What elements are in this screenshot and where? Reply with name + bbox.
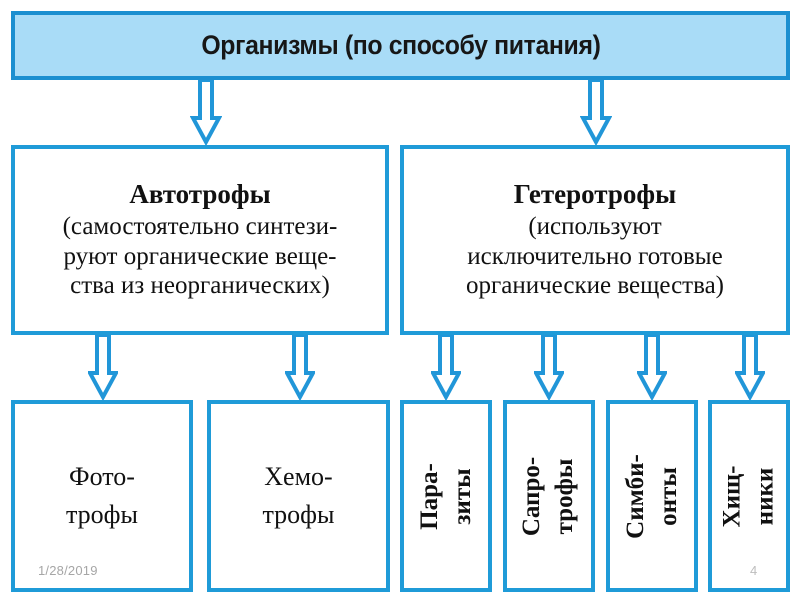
heterotrophs-line-1: (используют [466, 212, 724, 242]
type-box-parasites: Пара- зиты [400, 400, 492, 592]
arrow-autotrophs-to-phototrophs [88, 335, 118, 401]
phototrophs-line-1: Фото- [66, 458, 138, 496]
predators-line-2: ники [749, 465, 782, 527]
predators-label: Хищ- ники [716, 465, 781, 527]
autotrophs-line-2: руют органические веще- [63, 242, 338, 272]
slide-number: 4 [750, 563, 757, 578]
category-box-autotrophs: Автотрофы (самостоятельно синтези- руют … [11, 145, 389, 335]
type-box-saprotrophs: Сапро- трофы [503, 400, 595, 592]
heterotrophs-content: Гетеротрофы (используют исключительно го… [458, 179, 732, 300]
predators-line-1: Хищ- [716, 465, 749, 527]
arrow-title-to-heterotrophs [580, 80, 612, 146]
phototrophs-label: Фото- трофы [66, 458, 138, 533]
category-box-heterotrophs: Гетеротрофы (используют исключительно го… [400, 145, 790, 335]
page-title: Организмы (по способу питания) [201, 32, 600, 59]
autotrophs-content: Автотрофы (самостоятельно синтези- руют … [55, 179, 346, 300]
chemotrophs-label: Хемо- трофы [263, 458, 335, 533]
autotrophs-description: (самостоятельно синтези- руют органическ… [63, 212, 338, 301]
parasites-line-2: зиты [446, 463, 479, 530]
saprotrophs-label: Сапро- трофы [516, 456, 581, 535]
parasites-line-1: Пара- [414, 463, 447, 530]
title-box: Организмы (по способу питания) [11, 11, 790, 80]
saprotrophs-line-2: трофы [549, 456, 582, 535]
saprotrophs-line-1: Сапро- [516, 456, 549, 535]
footer-date: 1/28/2019 [38, 563, 98, 578]
parasites-label: Пара- зиты [414, 463, 479, 530]
chemotrophs-line-2: трофы [263, 496, 335, 534]
arrow-title-to-autotrophs [190, 80, 222, 146]
type-box-predators: Хищ- ники [708, 400, 790, 592]
chemotrophs-line-1: Хемо- [263, 458, 335, 496]
type-box-symbionts: Симби- онты [606, 400, 698, 592]
autotrophs-line-1: (самостоятельно синтези- [63, 212, 338, 242]
arrow-heterotrophs-to-saprotrophs [534, 335, 564, 401]
autotrophs-line-3: ства из неорганических) [63, 271, 338, 301]
heterotrophs-line-3: органические вещества) [466, 271, 724, 301]
type-box-chemotrophs: Хемо- трофы [207, 400, 390, 592]
arrow-autotrophs-to-chemotrophs [285, 335, 315, 401]
slide-canvas: Организмы (по способу питания) Автотрофы… [0, 0, 800, 600]
heterotrophs-line-2: исключительно готовые [466, 242, 724, 272]
symbionts-label: Симби- онты [620, 454, 685, 539]
arrow-heterotrophs-to-predators [735, 335, 765, 401]
autotrophs-heading: Автотрофы [63, 179, 338, 211]
phototrophs-line-2: трофы [66, 496, 138, 534]
symbionts-line-2: онты [652, 454, 685, 539]
symbionts-line-1: Симби- [620, 454, 653, 539]
heterotrophs-description: (используют исключительно готовые органи… [466, 212, 724, 301]
arrow-heterotrophs-to-parasites [431, 335, 461, 401]
heterotrophs-heading: Гетеротрофы [466, 179, 724, 211]
arrow-heterotrophs-to-symbionts [637, 335, 667, 401]
